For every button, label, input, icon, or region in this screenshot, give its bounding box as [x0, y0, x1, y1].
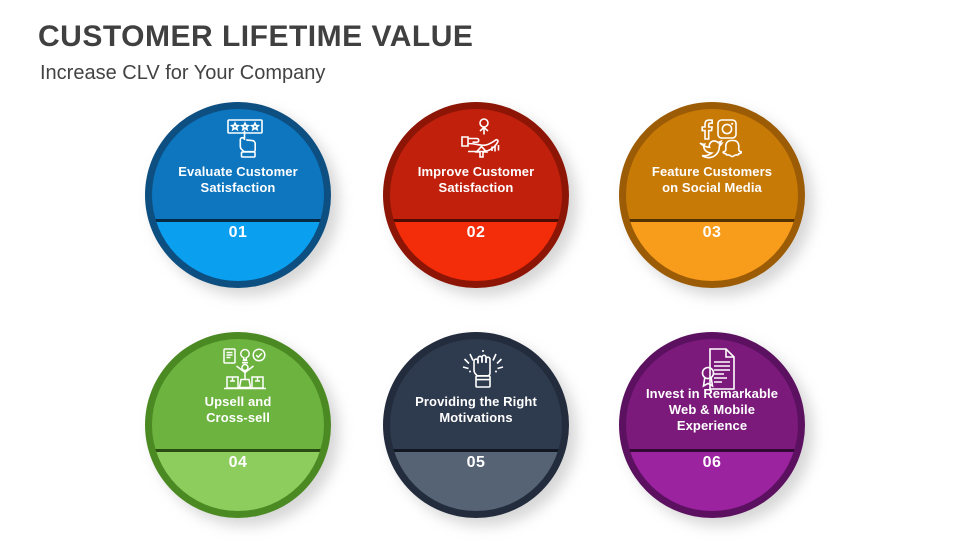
- card-06[interactable]: Invest in Remarkable Web & Mobile Experi…: [619, 330, 819, 520]
- card-label-line3: Experience: [625, 418, 799, 434]
- card-number: 04: [145, 454, 331, 472]
- card-grid: Evaluate Customer Satisfaction 01: [0, 96, 960, 526]
- card-label-line2: Satisfaction: [151, 180, 325, 196]
- card-label-line1: Improve Customer: [389, 164, 563, 180]
- card-label: Upsell and Cross-sell: [151, 394, 325, 426]
- card-label: Feature Customers on Social Media: [625, 164, 799, 196]
- card-01[interactable]: Evaluate Customer Satisfaction 01: [145, 100, 345, 290]
- card-label-line2: on Social Media: [625, 180, 799, 196]
- card-label-line1: Feature Customers: [625, 164, 799, 180]
- page-subtitle: Increase CLV for Your Company: [40, 62, 325, 85]
- card-04[interactable]: Upsell and Cross-sell 04: [145, 330, 345, 520]
- card-label: Invest in Remarkable Web & Mobile Experi…: [625, 386, 799, 434]
- card-number: 01: [145, 224, 331, 242]
- card-label-line2: Web & Mobile: [625, 402, 799, 418]
- card-02[interactable]: Improve Customer Satisfaction 02: [383, 100, 583, 290]
- card-label-line2: Motivations: [389, 410, 563, 426]
- card-label: Evaluate Customer Satisfaction: [151, 164, 325, 196]
- card-number: 05: [383, 454, 569, 472]
- card-05[interactable]: Providing the Right Motivations 05: [383, 330, 583, 520]
- slide-canvas: CUSTOMER LIFETIME VALUE Increase CLV for…: [0, 0, 960, 540]
- card-label-line1: Upsell and: [151, 394, 325, 410]
- card-label: Improve Customer Satisfaction: [389, 164, 563, 196]
- card-number: 02: [383, 224, 569, 242]
- card-number: 06: [619, 454, 805, 472]
- card-label-line1: Invest in Remarkable: [625, 386, 799, 402]
- card-03[interactable]: Feature Customers on Social Media 03: [619, 100, 819, 290]
- page-title: CUSTOMER LIFETIME VALUE: [38, 20, 473, 54]
- card-number: 03: [619, 224, 805, 242]
- card-label-line2: Cross-sell: [151, 410, 325, 426]
- card-label-line2: Satisfaction: [389, 180, 563, 196]
- card-label-line1: Providing the Right: [389, 394, 563, 410]
- card-label: Providing the Right Motivations: [389, 394, 563, 426]
- card-label-line1: Evaluate Customer: [151, 164, 325, 180]
